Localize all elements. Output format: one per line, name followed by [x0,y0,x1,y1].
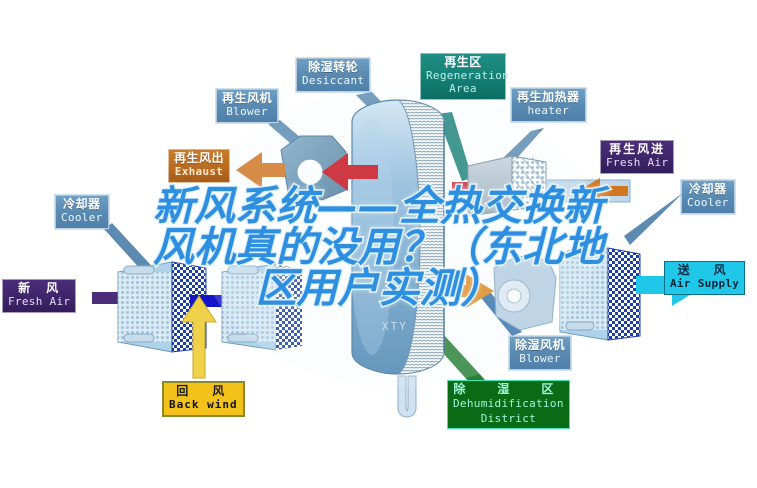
label-exhaust[interactable]: 再生风出 Exhaust [168,149,230,183]
label-regeneration-air-inlet[interactable]: 再生风进 Fresh Air [600,140,674,174]
label-cooler-right-cn: 冷却器 [687,183,729,196]
diagram-canvas: XTY [0,0,757,488]
label-fresh-air-inlet-cn: 新 风 [8,282,70,295]
label-cooler-left[interactable]: 冷却器 Cooler [55,195,109,229]
label-regeneration-air-inlet-cn: 再生风进 [606,143,668,156]
label-dehumidification-district-en-line2: District [453,412,564,425]
label-desiccant-rotor-en: Desiccant [302,75,364,87]
label-dehumidification-district-cn: 除 湿 区 [453,383,564,396]
label-back-wind[interactable]: 回 风 Back wind [162,381,245,417]
label-regeneration-blower-en: Blower [222,106,272,118]
label-dehumidification-district-en-line1: Dehumidification [453,397,564,410]
label-regeneration-heater-en: heater [517,105,580,117]
label-cooler-right-en: Cooler [687,197,729,209]
label-regeneration-blower-cn: 再生风机 [222,92,272,105]
label-regeneration-area-en: Regeneration Area [426,70,500,95]
label-dehumidification-blower-en: Blower [515,353,565,365]
label-fresh-air-inlet[interactable]: 新 风 Fresh Air [2,279,76,313]
label-regeneration-blower[interactable]: 再生风机 Blower [216,89,278,123]
label-air-supply-cn: 送 风 [670,264,739,277]
label-cooler-right[interactable]: 冷却器 Cooler [681,180,735,214]
label-regeneration-air-inlet-en: Fresh Air [606,157,668,169]
label-air-supply-en: Air Supply [670,278,739,290]
label-cooler-left-cn: 冷却器 [61,198,103,211]
label-regeneration-area[interactable]: 再生区 Regeneration Area [420,53,506,100]
label-exhaust-en: Exhaust [174,166,224,178]
label-regeneration-area-cn: 再生区 [426,56,500,69]
label-dehumidification-district[interactable]: 除 湿 区 Dehumidification District [447,380,570,429]
label-desiccant-rotor-cn: 除湿转轮 [302,61,364,74]
label-back-wind-cn: 回 风 [169,385,238,398]
system-diagram-illustration: XTY [0,0,757,488]
label-exhaust-cn: 再生风出 [174,152,224,165]
label-regeneration-heater-cn: 再生加热器 [517,91,580,104]
label-cooler-left-en: Cooler [61,212,103,224]
fresh-air-section [92,262,206,352]
label-air-supply[interactable]: 送 风 Air Supply [664,261,745,295]
label-dehumidification-blower[interactable]: 除湿风机 Blower [509,336,571,370]
label-desiccant-rotor[interactable]: 除湿转轮 Desiccant [296,58,370,92]
label-dehumidification-blower-cn: 除湿风机 [515,339,565,352]
label-fresh-air-inlet-en: Fresh Air [8,296,70,308]
label-back-wind-en: Back wind [169,399,238,411]
label-regeneration-heater[interactable]: 再生加热器 heater [511,88,586,122]
